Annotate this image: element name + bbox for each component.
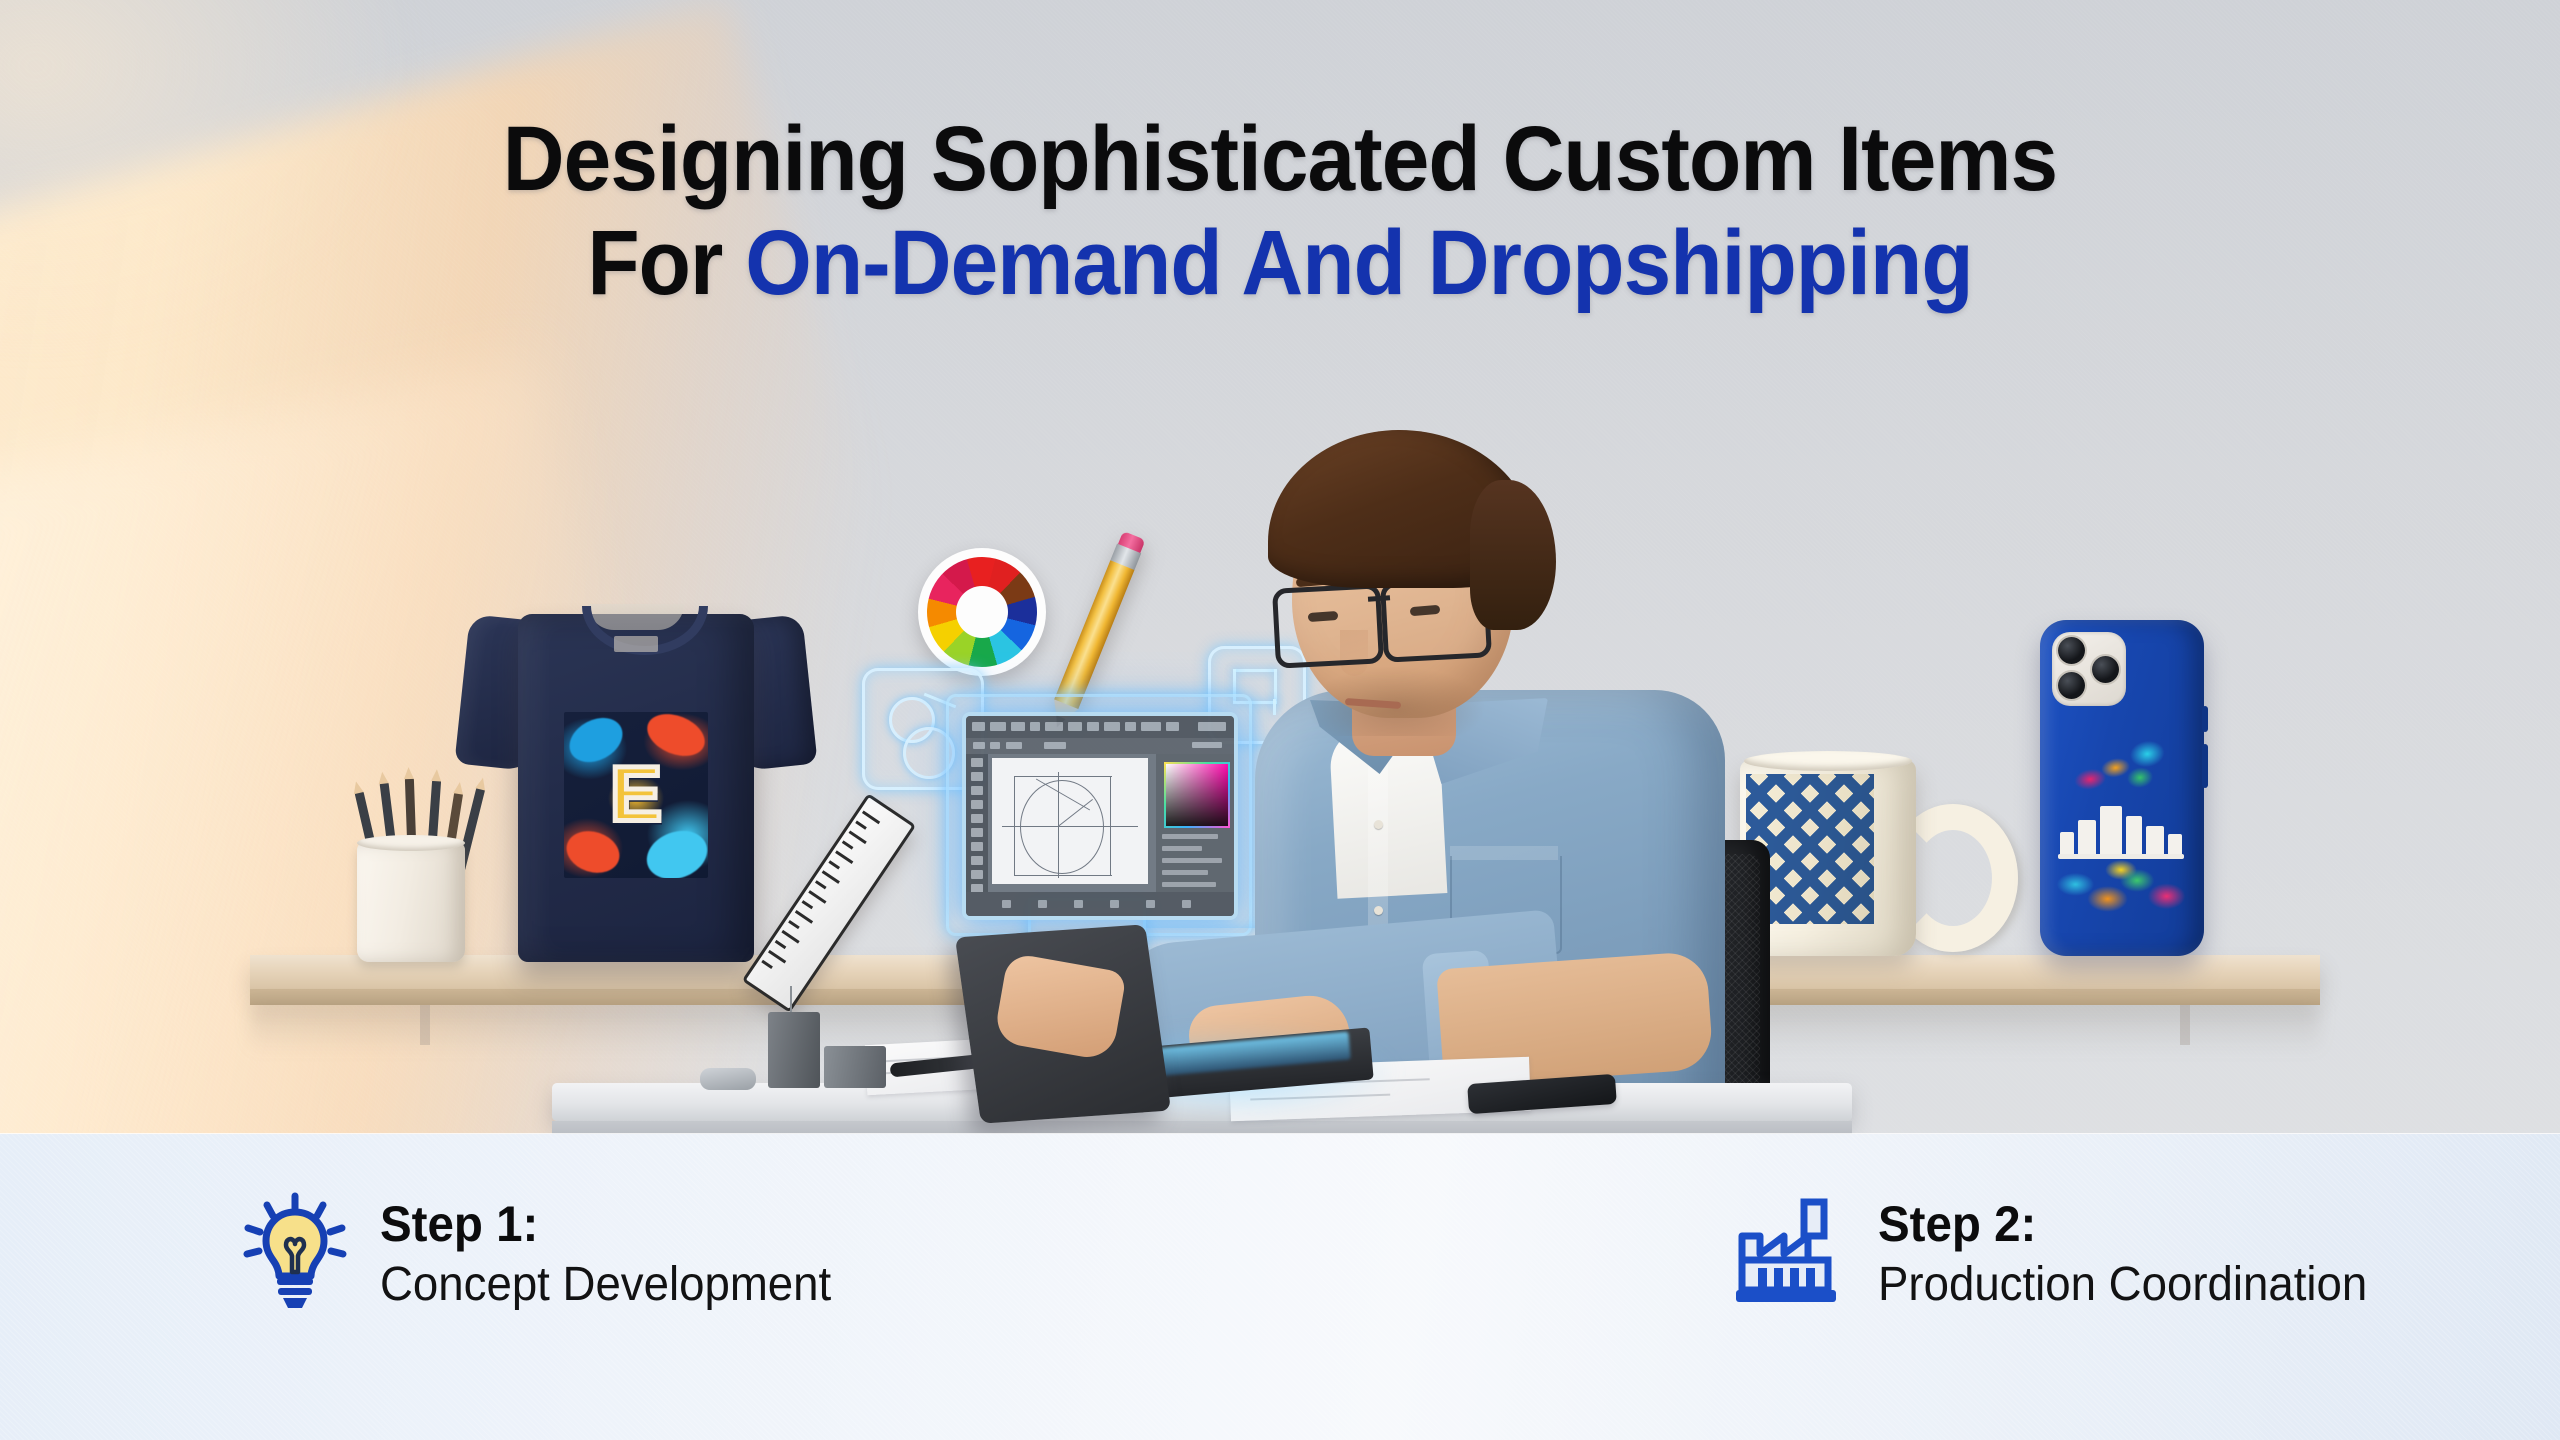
step-2: Step 2: Production Coordination bbox=[1730, 1192, 2393, 1314]
cable bbox=[790, 986, 792, 1014]
tshirt-tag bbox=[614, 636, 658, 652]
app-status-bar bbox=[966, 892, 1234, 916]
tshirt-print-letter: E bbox=[610, 754, 662, 832]
steps-banner: Step 1: Concept Development Step 2: Prod… bbox=[0, 1134, 2560, 1440]
app-tool-palette bbox=[966, 754, 988, 892]
step-1-title: Step 1: bbox=[380, 1196, 831, 1252]
title-line-2: For On-Demand And Dropshipping bbox=[90, 212, 2471, 316]
step-1-subtitle: Concept Development bbox=[380, 1256, 831, 1314]
app-color-panel bbox=[1156, 754, 1234, 892]
step-2-text: Step 2: Production Coordination bbox=[1878, 1192, 2393, 1314]
app-options-bar bbox=[966, 738, 1234, 754]
title-line-2-accent: On-Demand And Dropshipping bbox=[745, 212, 1972, 314]
case-art-cityscape bbox=[2058, 800, 2184, 856]
case-art-floral-bottom bbox=[2054, 858, 2188, 924]
holo-design-app bbox=[962, 712, 1238, 920]
custom-phone-case bbox=[2040, 620, 2204, 956]
shelf-bracket bbox=[2180, 1005, 2190, 1045]
desk-accessory-block bbox=[768, 1012, 820, 1088]
hero-banner-image: Designing Sophisticated Custom Items For… bbox=[0, 0, 2560, 1440]
app-canvas bbox=[992, 758, 1148, 884]
color-picker-gradient bbox=[1164, 762, 1230, 828]
title-line-1: Designing Sophisticated Custom Items bbox=[90, 108, 2471, 212]
step-2-title: Step 2: bbox=[1878, 1196, 2367, 1252]
app-toolbar bbox=[966, 716, 1234, 738]
color-wheel bbox=[918, 548, 1046, 676]
step-2-subtitle: Production Coordination bbox=[1878, 1256, 2367, 1314]
camera-module bbox=[2052, 632, 2126, 706]
step-1-text: Step 1: Concept Development bbox=[380, 1192, 855, 1314]
case-art-floral-top bbox=[2060, 729, 2180, 806]
cup-body bbox=[357, 842, 465, 962]
desk-accessory-puck bbox=[700, 1068, 756, 1090]
step-1: Step 1: Concept Development bbox=[240, 1192, 855, 1314]
factory-icon bbox=[1730, 1192, 1848, 1310]
title-line-2-prefix: For bbox=[587, 212, 745, 314]
desk-accessory-block bbox=[824, 1046, 886, 1088]
tshirt-print-artwork: E bbox=[564, 712, 708, 878]
shelf-bracket bbox=[420, 1005, 430, 1045]
case-button bbox=[2202, 706, 2208, 732]
custom-tshirt: E bbox=[466, 584, 806, 964]
page-title: Designing Sophisticated Custom Items For… bbox=[90, 108, 2471, 316]
color-wheel-center bbox=[956, 586, 1008, 638]
lightbulb-icon bbox=[240, 1192, 350, 1312]
case-button bbox=[2202, 744, 2208, 788]
